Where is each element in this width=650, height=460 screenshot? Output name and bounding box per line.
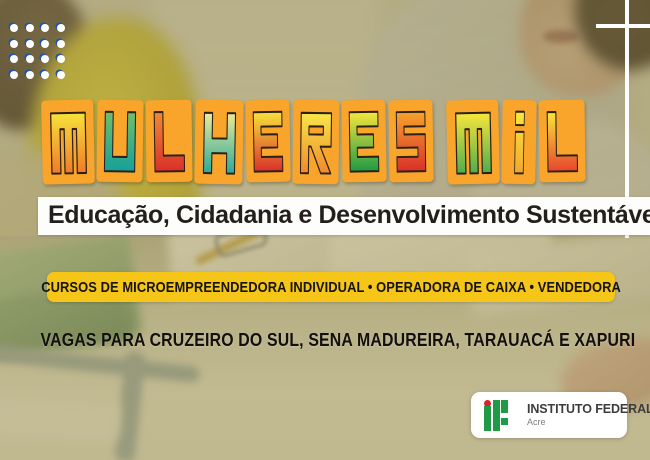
poster-canvas: Educação, Cidadania e Desenvolvimento Su…	[0, 0, 650, 460]
title-letter-tile-m-8	[446, 99, 500, 184]
vacancies-text: VAGAS PARA CRUZEIRO DO SUL, SENA MADUREI…	[41, 330, 636, 351]
title-letter-tile-m-0	[41, 99, 95, 184]
cross-horizontal-line-decoration	[596, 24, 650, 28]
logo-green-block-icon	[501, 406, 508, 413]
instituto-federal-logo: INSTITUTO FEDERAL Acre	[471, 392, 627, 438]
title-letter-tile-s-7	[388, 100, 433, 183]
logo-green-block-icon	[484, 424, 491, 431]
dot-grid-decoration	[10, 24, 72, 86]
title-letter-tile-h-3	[194, 100, 243, 185]
title-letter-tile-u-1	[96, 100, 143, 183]
logo-green-block-icon	[501, 418, 508, 425]
courses-banner-text: CURSOS DE MICROEMPREENDEDORA INDIVIDUAL …	[41, 279, 621, 296]
vacancies-line: VAGAS PARA CRUZEIRO DO SUL, SENA MADUREI…	[0, 330, 650, 351]
title-letter-tile-r-5	[292, 100, 339, 185]
courses-banner: CURSOS DE MICROEMPREENDEDORA INDIVIDUAL …	[47, 272, 615, 302]
logo-text: INSTITUTO FEDERAL Acre	[527, 403, 650, 427]
title-letter-tile-l-10	[538, 100, 585, 183]
title-letter-tile-l-2	[145, 100, 192, 183]
title-letter-tile-e-6	[341, 100, 386, 183]
logo-title: INSTITUTO FEDERAL	[527, 403, 650, 416]
title-letter-tile-i-9	[501, 100, 537, 185]
poster-subtitle: Educação, Cidadania e Desenvolvimento Su…	[38, 197, 650, 235]
logo-green-block-icon	[493, 424, 500, 431]
instituto-federal-mark-icon	[484, 400, 518, 430]
logo-campus: Acre	[527, 418, 650, 427]
poster-title	[42, 100, 608, 190]
title-letter-tile-e-4	[245, 100, 290, 183]
